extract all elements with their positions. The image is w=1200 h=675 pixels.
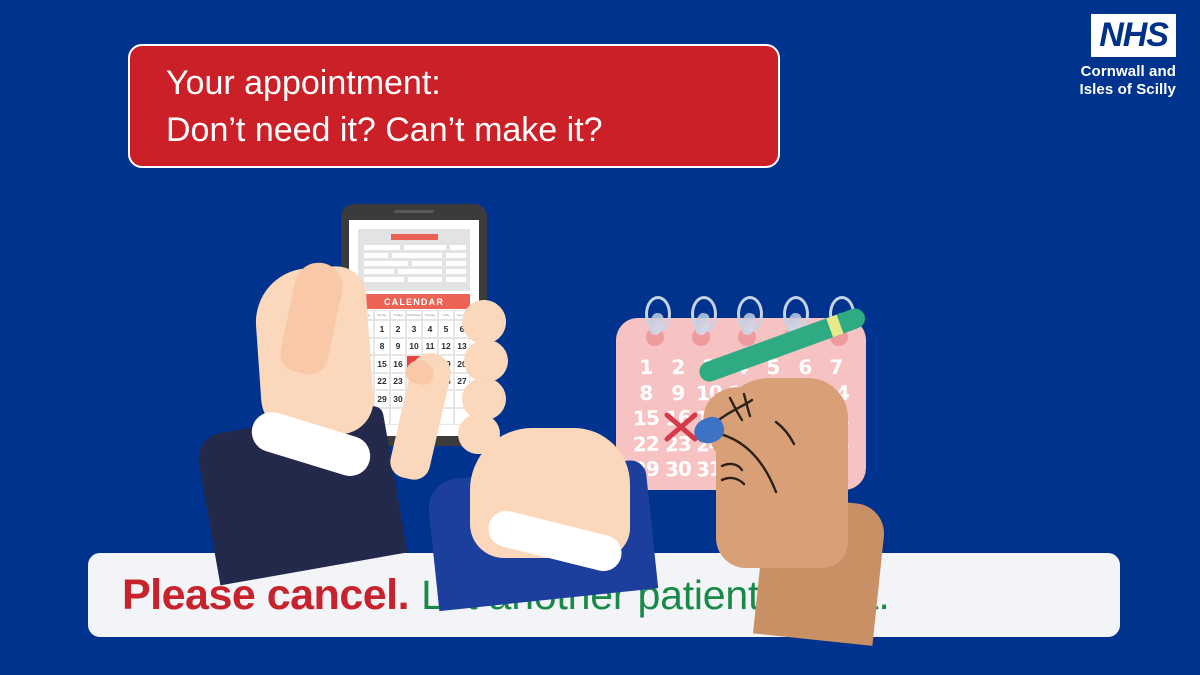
phone-weekday-3: Wednesday (406, 310, 422, 320)
cta-bold-text: Please cancel. (122, 571, 409, 620)
letter-title-bar (391, 234, 438, 240)
phone-calendar-day[interactable]: 10 (406, 338, 422, 356)
pen-band (826, 315, 843, 338)
headline-line-2: Don’t need it? Can’t make it? (166, 107, 778, 154)
nhs-logo-line2: Isles of Scilly (1079, 81, 1176, 99)
wall-calendar-day: 2 (661, 353, 694, 380)
wall-calendar-ring-icon (645, 296, 671, 332)
phone-speaker-icon (394, 210, 434, 213)
nhs-logo-mark: NHS (1091, 14, 1176, 57)
phone-weekday-1: Monday (374, 310, 390, 320)
wall-calendar-day: 15 (630, 405, 663, 432)
headline-line-1: Your appointment: (166, 60, 778, 107)
phone-calendar-day[interactable]: 4 (422, 320, 438, 338)
phone-calendar-day[interactable]: 5 (438, 320, 454, 338)
poster-canvas: NHS Cornwall and Isles of Scilly Your ap… (0, 0, 1200, 675)
appointment-letter-placeholder (358, 229, 470, 291)
phone-calendar-day[interactable]: 3 (406, 320, 422, 338)
nhs-logo-line1: Cornwall and (1079, 63, 1176, 81)
phone-calendar-day[interactable]: 1 (374, 320, 390, 338)
phone-calendar-day[interactable]: 23 (390, 373, 406, 391)
phone-weekday-2: Tuesday (390, 310, 406, 320)
phone-weekday-5: Friday (438, 310, 454, 320)
wall-calendar-day: 8 (630, 379, 663, 406)
wall-calendar-day: 1 (630, 353, 663, 380)
wall-calendar-ring-icon (691, 296, 717, 332)
phone-calendar-day[interactable]: 8 (374, 338, 390, 356)
phone-calendar-day[interactable]: 9 (390, 338, 406, 356)
phone-calendar-day[interactable]: 12 (438, 338, 454, 356)
wall-calendar-day: 30 (661, 456, 694, 483)
nhs-logo: NHS Cornwall and Isles of Scilly (1079, 14, 1176, 99)
phone-calendar-day[interactable]: 29 (374, 390, 390, 408)
wall-calendar-day: 22 (630, 430, 663, 457)
phone-calendar-title: CALENDAR (358, 294, 470, 309)
pen-hand-finger-lines (700, 370, 880, 570)
phone-weekday-4: Thursday (422, 310, 438, 320)
phone-calendar-day[interactable]: 22 (374, 373, 390, 391)
nhs-logo-subtitle: Cornwall and Isles of Scilly (1079, 63, 1176, 99)
headline-banner: Your appointment: Don’t need it? Can’t m… (128, 44, 780, 168)
phone-calendar-weekday-row: SundayMondayTuesdayWednesdayThursdayFrid… (358, 310, 470, 320)
crossed-out-day-icon (664, 412, 698, 442)
wall-calendar-ring-icon (737, 296, 763, 332)
phone-calendar-day[interactable]: 16 (390, 355, 406, 373)
phone-calendar-day[interactable]: 15 (374, 355, 390, 373)
wall-calendar-day: 9 (661, 379, 694, 406)
phone-calendar-day[interactable]: 2 (390, 320, 406, 338)
